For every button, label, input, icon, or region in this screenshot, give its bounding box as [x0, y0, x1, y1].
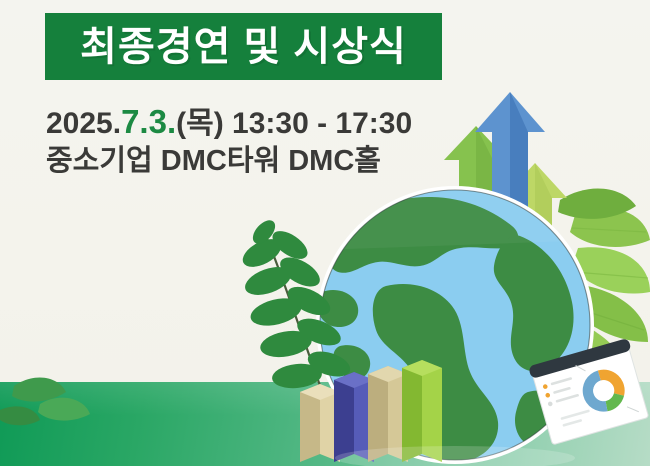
event-info: 2025.7.3.(목) 13:30 - 17:30 중소기업 DMC타워 DM… [46, 104, 466, 179]
ground-band-highlight [0, 382, 650, 466]
leaf-cluster-right [558, 189, 650, 390]
page-title: 최종경연 및 시상식 [80, 27, 407, 67]
growth-arrow-blue [475, 92, 545, 278]
event-date-line: 2025.7.3.(목) 13:30 - 17:30 [46, 104, 466, 141]
event-date-year: 2025. [46, 107, 121, 140]
fern-frond-left [238, 216, 353, 404]
event-date-accent: 7.3. [121, 103, 176, 140]
event-poster: 최종경연 및 시상식 2025.7.3.(목) 13:30 - 17:30 중소… [0, 0, 650, 466]
event-date-rest: (목) 13:30 - 17:30 [176, 107, 412, 140]
event-venue: 중소기업 DMC타워 DMC홀 [46, 144, 466, 179]
growth-arrow-yellowgreen [503, 163, 567, 290]
title-banner: 최종경연 및 시상식 [45, 13, 442, 80]
